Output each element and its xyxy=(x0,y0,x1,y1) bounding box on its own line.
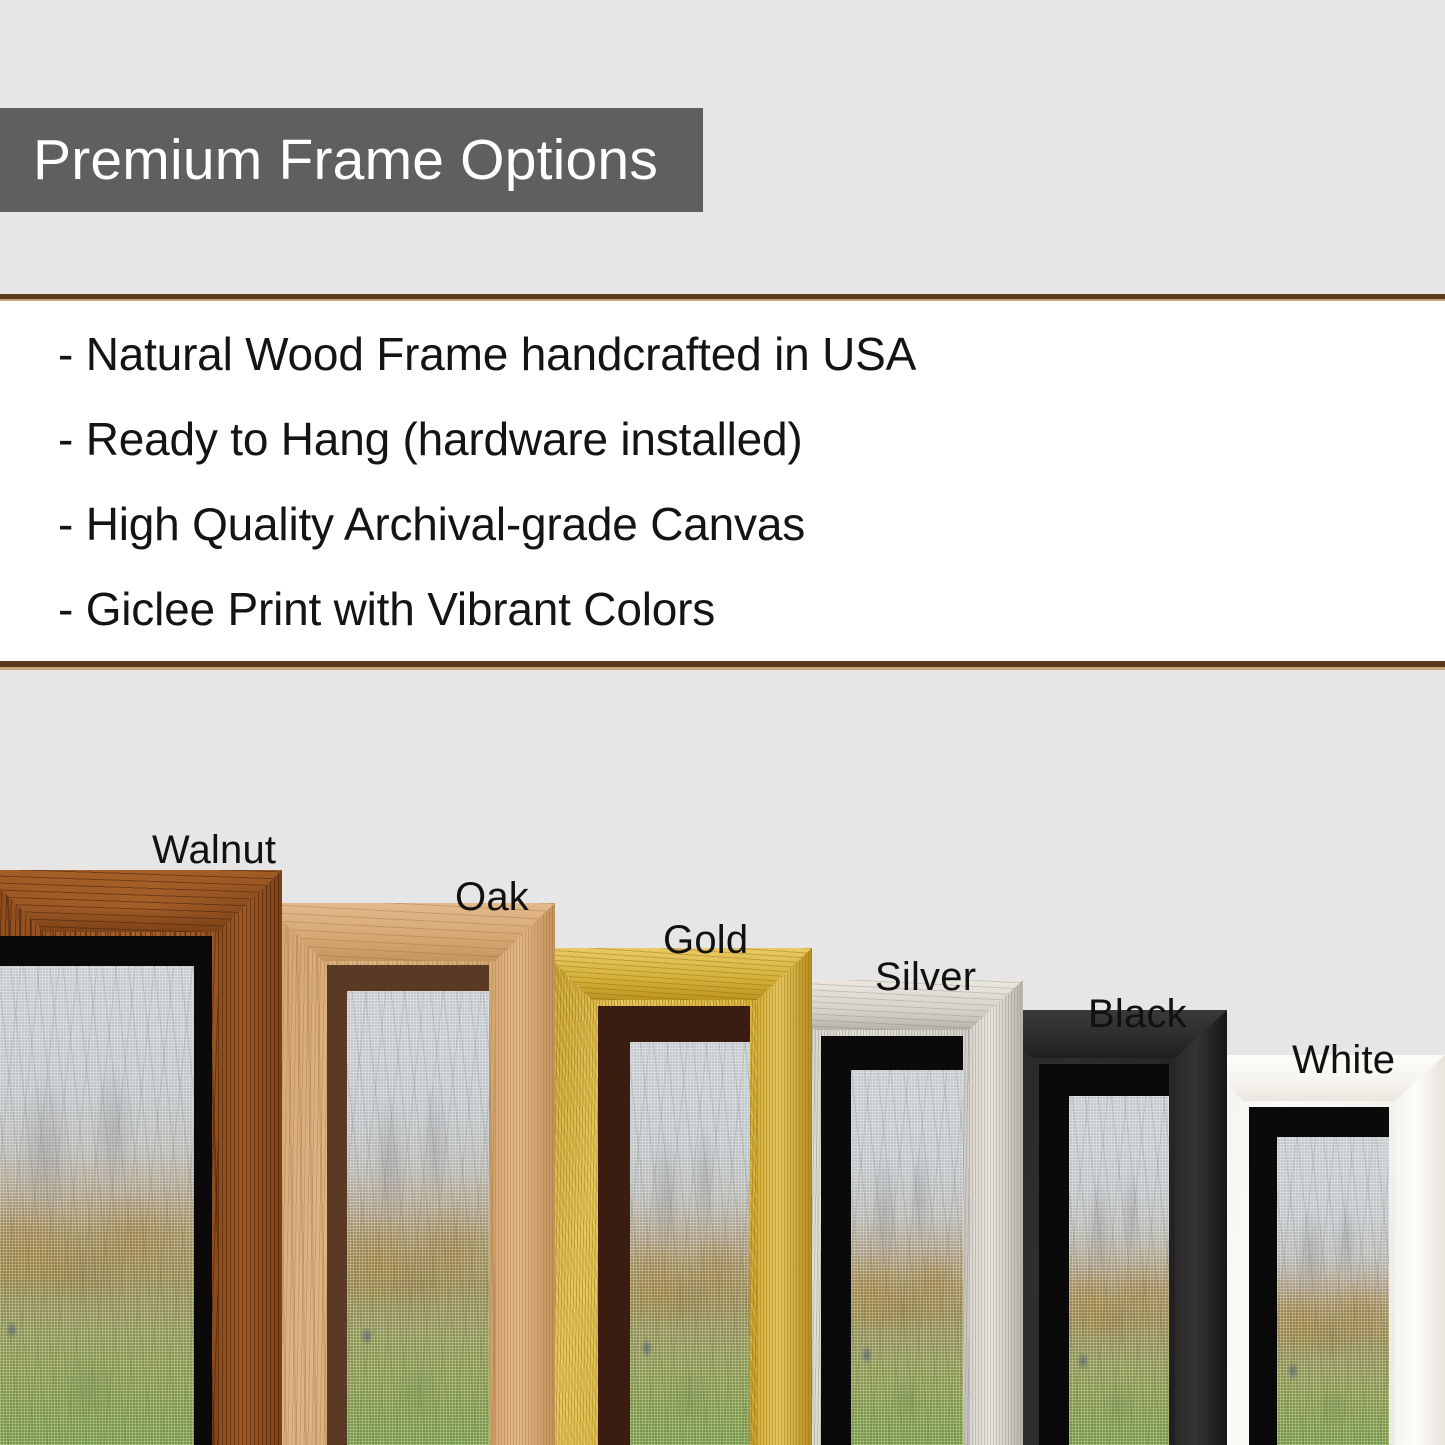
list-item: - High Quality Archival-grade Canvas xyxy=(58,501,1388,547)
frame-side-bevel xyxy=(1395,1055,1445,1445)
feature-list: - Natural Wood Frame handcrafted in USA … xyxy=(58,331,1388,671)
frame-sample-gold[interactable] xyxy=(540,948,812,1445)
list-item: - Giclee Print with Vibrant Colors xyxy=(58,586,1388,632)
frame-label-black: Black xyxy=(1088,992,1187,1037)
frame-showcase: Walnut Oak Gold Silver Black White xyxy=(0,670,1445,1445)
frame-inner-lip xyxy=(1249,1107,1389,1445)
frame-inner-lip xyxy=(327,965,489,1445)
frame-label-silver: Silver xyxy=(875,955,976,1000)
title-banner: Premium Frame Options xyxy=(0,108,703,212)
frame-inner-lip xyxy=(0,936,212,1445)
canvas-artwork xyxy=(1069,1096,1169,1445)
canvas-artwork xyxy=(851,1070,963,1445)
frame-inner-lip xyxy=(1039,1064,1169,1445)
canvas-artwork xyxy=(0,966,194,1445)
frame-label-gold: Gold xyxy=(663,918,748,963)
page-title: Premium Frame Options xyxy=(0,132,658,189)
feature-panel: - Natural Wood Frame handcrafted in USA … xyxy=(0,301,1445,661)
canvas-artwork xyxy=(630,1042,750,1445)
frame-side-bevel xyxy=(495,903,555,1445)
canvas-artwork xyxy=(347,991,489,1445)
frame-sample-oak[interactable] xyxy=(265,903,555,1445)
frame-inner-lip xyxy=(598,1006,750,1445)
frame-side-bevel xyxy=(1175,1010,1227,1445)
frame-label-white: White xyxy=(1292,1038,1395,1083)
list-item: - Ready to Hang (hardware installed) xyxy=(58,416,1388,462)
frame-label-oak: Oak xyxy=(455,875,529,920)
frame-side-bevel xyxy=(218,870,282,1445)
header-zone: Premium Frame Options xyxy=(0,0,1445,296)
frame-options-infographic: Premium Frame Options - Natural Wood Fra… xyxy=(0,0,1445,1445)
frame-inner-lip xyxy=(821,1036,963,1445)
frame-side-bevel xyxy=(969,980,1023,1445)
frame-sample-walnut[interactable] xyxy=(0,870,282,1445)
frame-label-walnut: Walnut xyxy=(152,828,276,873)
list-item: - Natural Wood Frame handcrafted in USA xyxy=(58,331,1388,377)
canvas-artwork xyxy=(1277,1137,1389,1445)
frame-sample-white[interactable] xyxy=(1197,1055,1445,1445)
frame-side-bevel xyxy=(757,948,812,1445)
